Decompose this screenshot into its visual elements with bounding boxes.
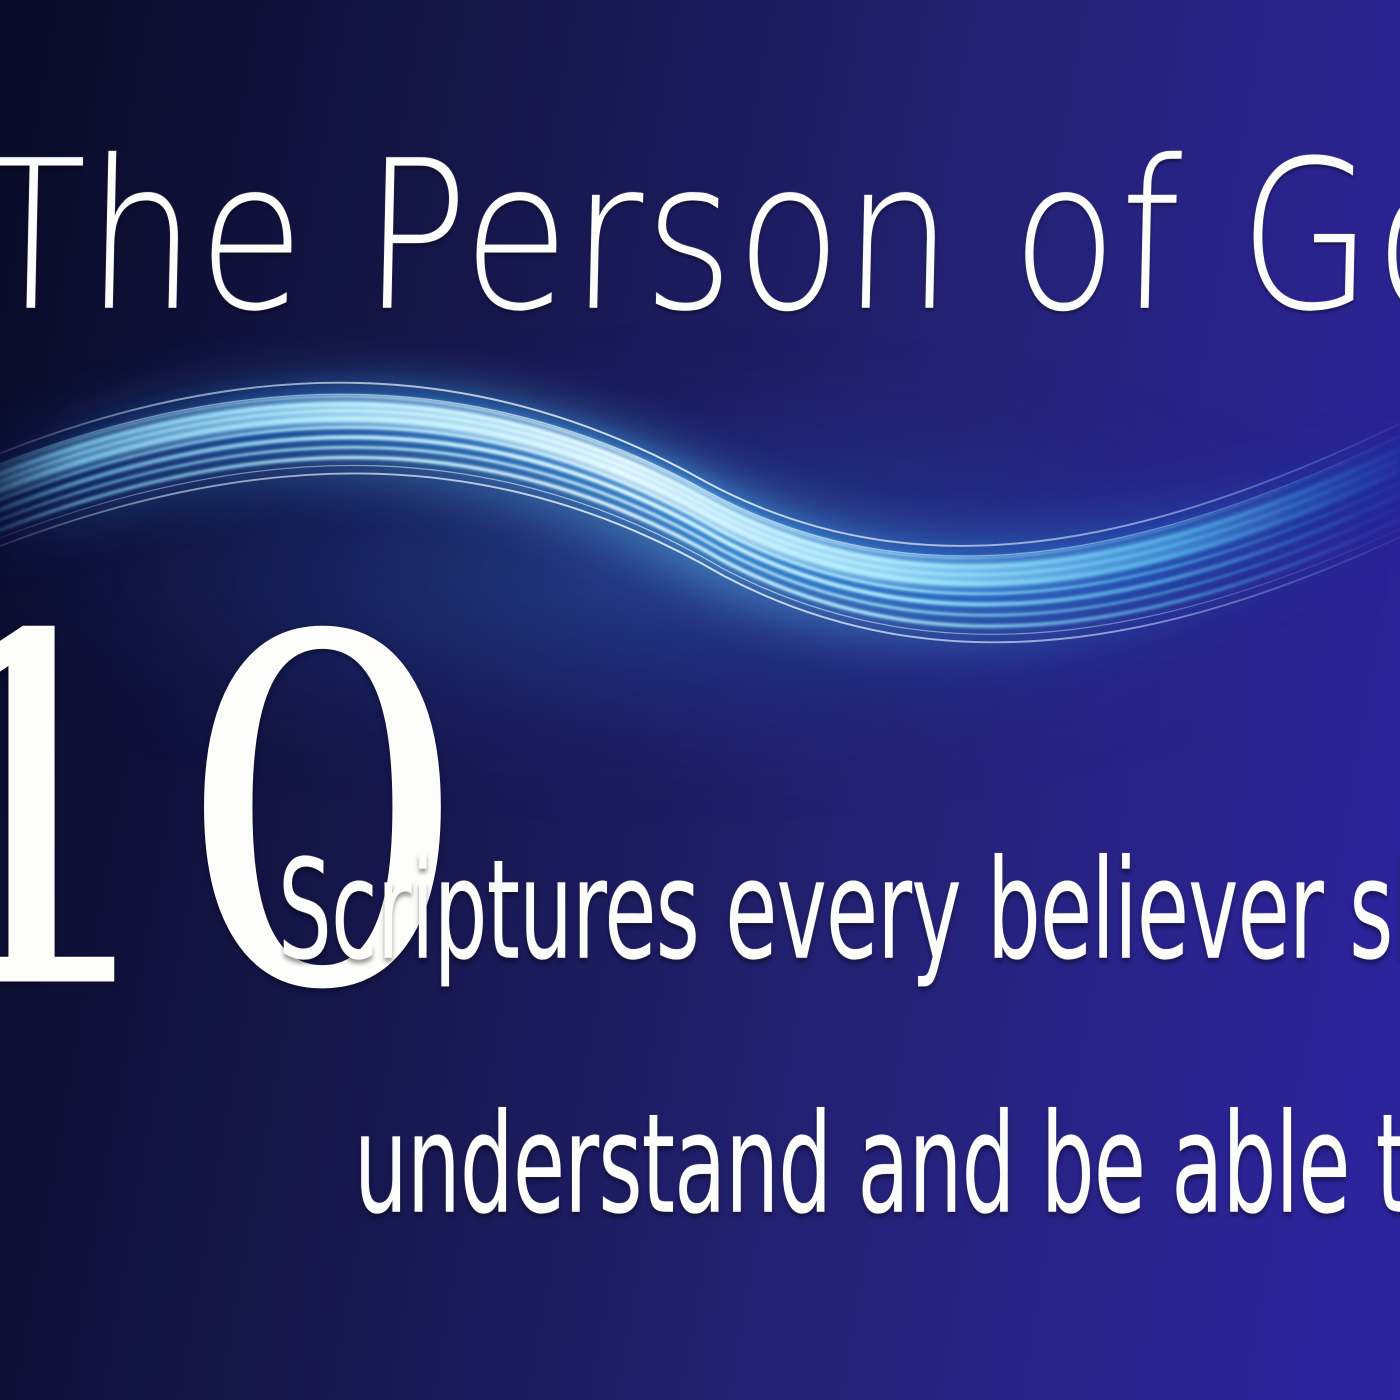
page-title: The Person of God xyxy=(0,128,1400,347)
subtitle-block: Scriptures every believer should underst… xyxy=(278,842,1400,1202)
cover-art-canvas: The Person of God xyxy=(0,0,1400,1400)
subtitle-line-2: understand and be able to xyxy=(354,1096,1325,1234)
subtitle-line-1: Scriptures every believer should xyxy=(278,842,1310,980)
